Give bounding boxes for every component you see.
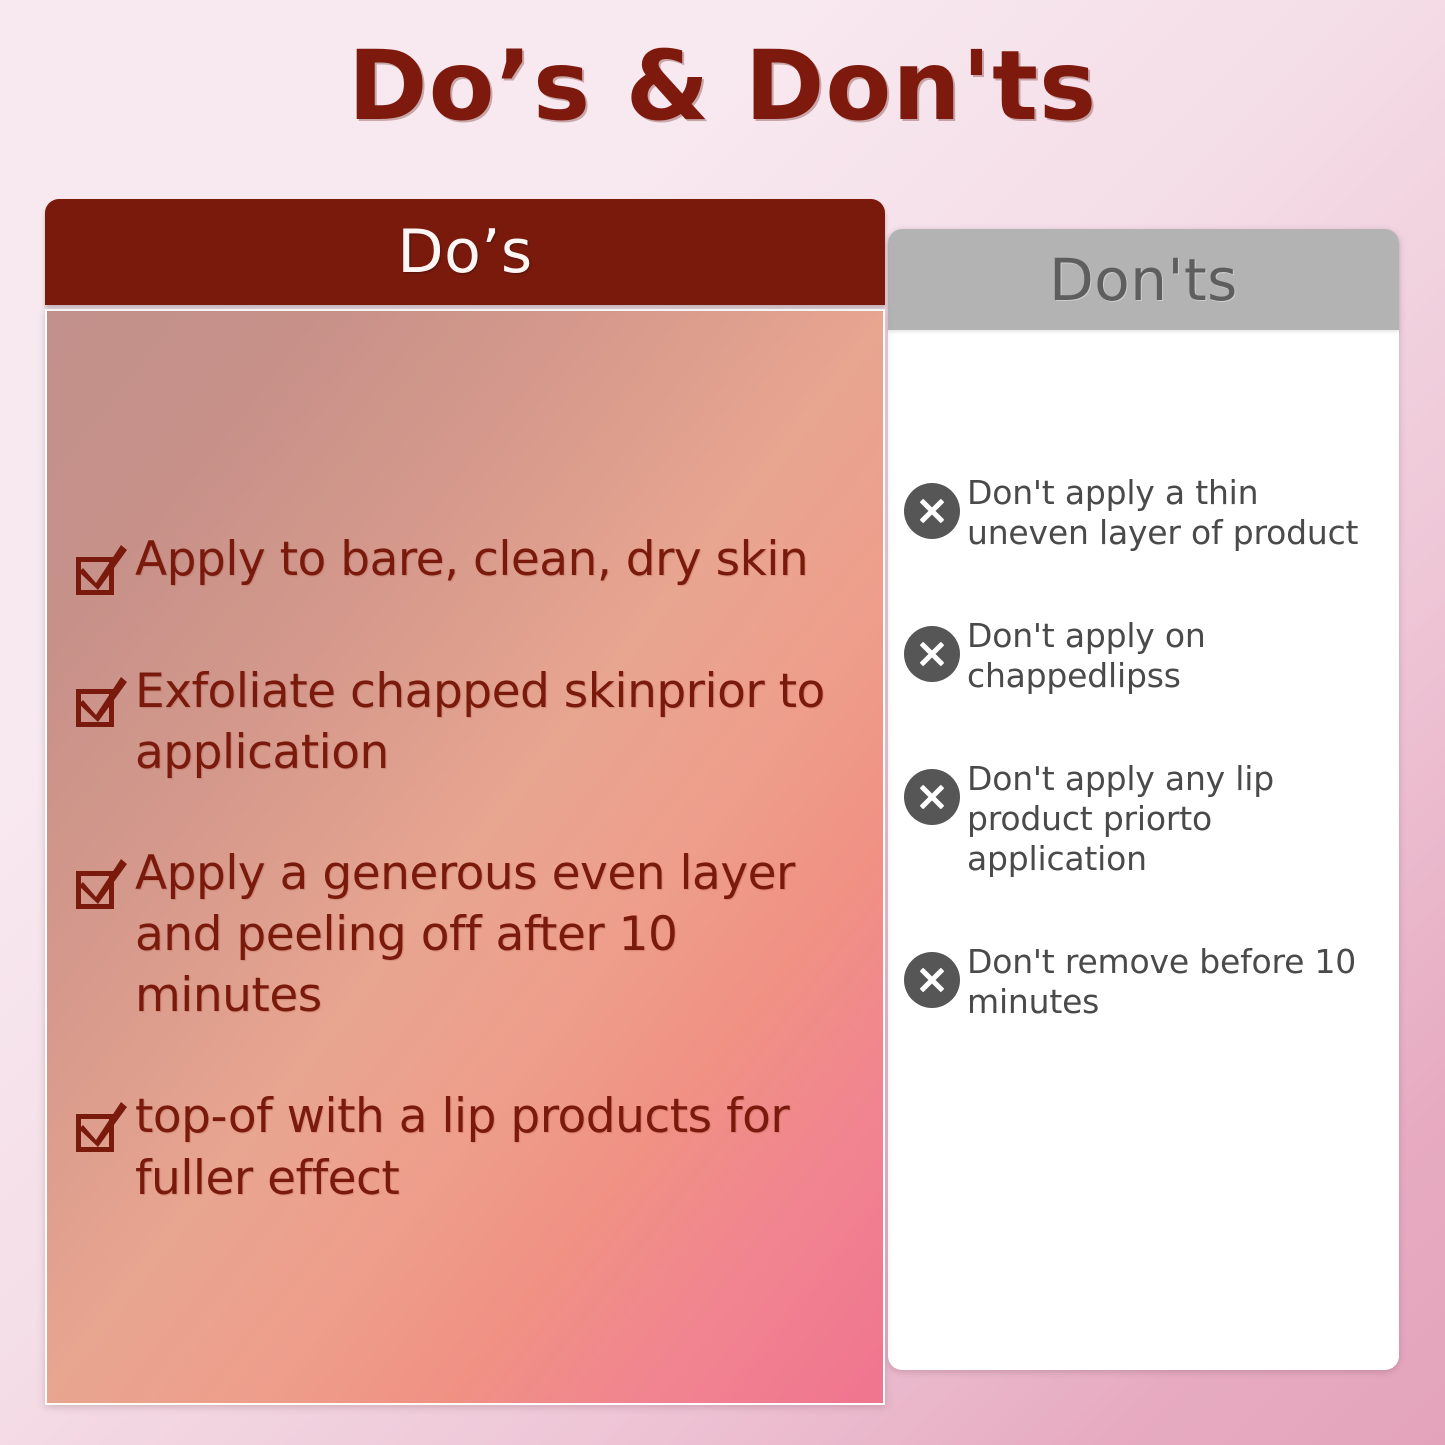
check-mark-glyph [77,675,129,725]
dos-header: Do’s [45,199,885,305]
list-item-label: Don't remove before 10 minutes [967,938,1390,1021]
donts-list: Don't apply a thin uneven layer of produ… [904,469,1390,1081]
infographic-page: Do’s & Don'ts Don'ts Don't apply a thin … [0,0,1445,1445]
list-item: top-of with a lip products for fuller ef… [73,1086,873,1208]
list-item: Apply a generous even layer and peeling … [73,843,873,1026]
list-item: Apply to bare, clean, dry skin [73,529,873,601]
circle-x-icon [904,769,960,825]
list-item-label: Exfoliate chapped skinprior to applicati… [135,661,873,783]
donts-header: Don'ts [888,229,1399,330]
circle-x-icon [904,626,960,682]
check-mark-glyph [77,857,129,907]
list-item-label: Apply a generous even layer and peeling … [135,843,873,1026]
circle-x-icon [904,483,960,539]
dos-list: Apply to bare, clean, dry skin Exfoliate… [73,529,873,1269]
list-item: Exfoliate chapped skinprior to applicati… [73,661,873,783]
list-item: Don't remove before 10 minutes [904,938,1390,1021]
list-item-label: Don't apply on chappedlipss [967,612,1390,695]
list-item-label: Don't apply any lip product priorto appl… [967,755,1390,878]
dos-header-label: Do’s [397,217,532,287]
donts-panel: Don'ts Don't apply a thin uneven layer o… [888,229,1399,1370]
list-item-label: top-of with a lip products for fuller ef… [135,1086,873,1208]
checkbox-checked-icon [73,549,129,601]
list-item: Don't apply any lip product priorto appl… [904,755,1390,878]
circle-x-icon [904,952,960,1008]
page-title: Do’s & Don'ts [0,34,1445,140]
check-mark-glyph [77,1100,129,1150]
list-item-label: Apply to bare, clean, dry skin [135,529,808,590]
checkbox-checked-icon [73,863,129,915]
donts-header-label: Don'ts [1049,246,1238,314]
checkbox-checked-icon [73,681,129,733]
list-item: Don't apply on chappedlipss [904,612,1390,695]
check-mark-glyph [77,543,129,593]
list-item: Don't apply a thin uneven layer of produ… [904,469,1390,552]
list-item-label: Don't apply a thin uneven layer of produ… [967,469,1390,552]
checkbox-checked-icon [73,1106,129,1158]
dos-panel: Do’s Apply to bare, clean, dry skin [45,199,885,1405]
